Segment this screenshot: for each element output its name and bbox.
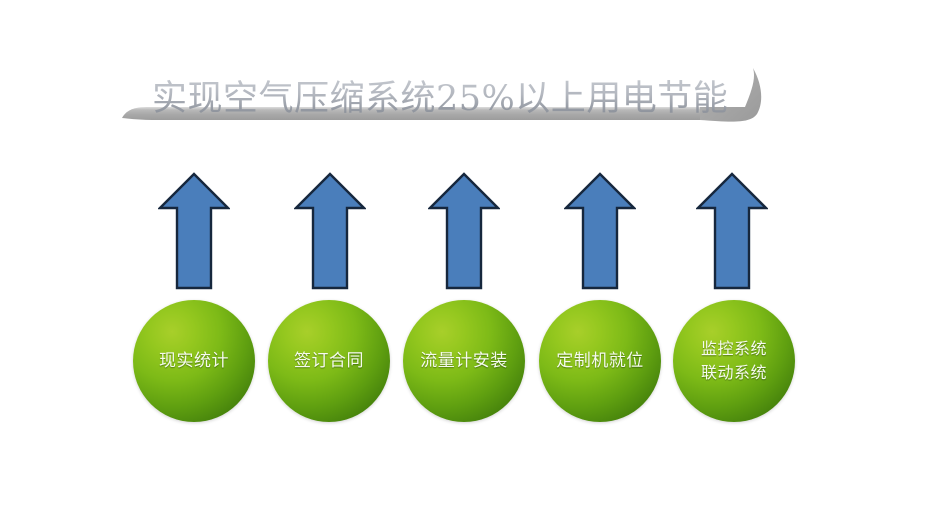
process-node-3[interactable]: 流量计安装: [403, 300, 525, 422]
process-node-2[interactable]: 签订合同: [268, 300, 390, 422]
process-node-3-label: 流量计安装: [416, 349, 512, 374]
arrow-5-up-icon: [696, 172, 768, 290]
process-node-1[interactable]: 现实统计: [133, 300, 255, 422]
presentation-slide: 实现空气压缩系统25%以上用电节能 现实统计 签订合同 流量计安装 定制机就位 …: [0, 0, 945, 529]
process-node-5-label: 监控系统 联动系统: [697, 337, 771, 385]
process-node-4[interactable]: 定制机就位: [539, 300, 661, 422]
process-node-4-label: 定制机就位: [552, 349, 648, 374]
arrow-1-up-icon: [158, 172, 230, 290]
process-node-5[interactable]: 监控系统 联动系统: [673, 300, 795, 422]
page-title: 实现空气压缩系统25%以上用电节能: [152, 73, 792, 128]
process-node-1-label: 现实统计: [155, 349, 233, 374]
title-banner: 实现空气压缩系统25%以上用电节能: [0, 28, 945, 138]
process-node-2-label: 签订合同: [290, 349, 368, 374]
arrow-3-up-icon: [428, 172, 500, 290]
arrow-2-up-icon: [294, 172, 366, 290]
arrow-4-up-icon: [564, 172, 636, 290]
